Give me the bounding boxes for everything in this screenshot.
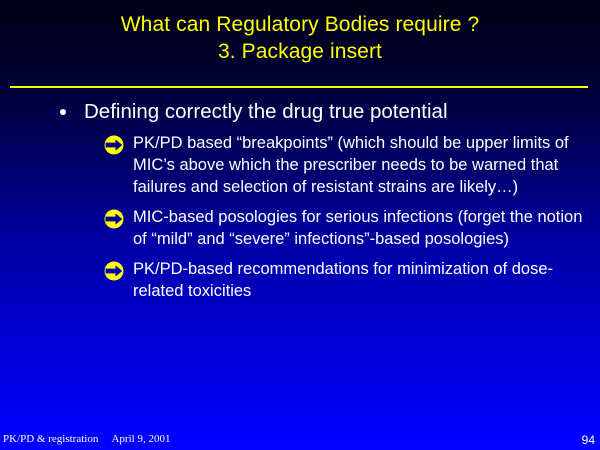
sub-bullet-item: PK/PD based “breakpoints” (which should …	[0, 132, 600, 198]
sub-bullet-label: PK/PD based “breakpoints” (which should …	[133, 134, 569, 196]
sub-bullet-item: PK/PD-based recommendations for minimiza…	[0, 258, 600, 302]
arrow-in-circle-icon	[103, 134, 125, 156]
sub-bullet-item: MIC-based posologies for serious infecti…	[0, 206, 600, 250]
arrow-in-circle-icon	[103, 208, 125, 230]
footer-text: PK/PD & registration April 9, 2001	[3, 433, 170, 446]
slide-canvas: What can Regulatory Bodies require ? 3. …	[0, 0, 600, 450]
slide-body: Defining correctly the drug true potenti…	[0, 98, 600, 310]
main-bullet-item: Defining correctly the drug true potenti…	[0, 98, 600, 125]
sub-bullet-label: MIC-based posologies for serious infecti…	[133, 208, 582, 248]
slide-number: 94	[582, 433, 595, 447]
sub-bullet-label: PK/PD-based recommendations for minimiza…	[133, 260, 553, 300]
main-bullet-label: Defining correctly the drug true potenti…	[84, 100, 448, 123]
arrow-in-circle-icon	[103, 260, 125, 282]
bullet-dot-icon	[60, 109, 66, 115]
slide-title: What can Regulatory Bodies require ? 3. …	[0, 11, 600, 65]
title-line-2: 3. Package insert	[0, 38, 600, 65]
title-divider-rule	[10, 86, 588, 88]
title-line-1: What can Regulatory Bodies require ?	[0, 11, 600, 38]
